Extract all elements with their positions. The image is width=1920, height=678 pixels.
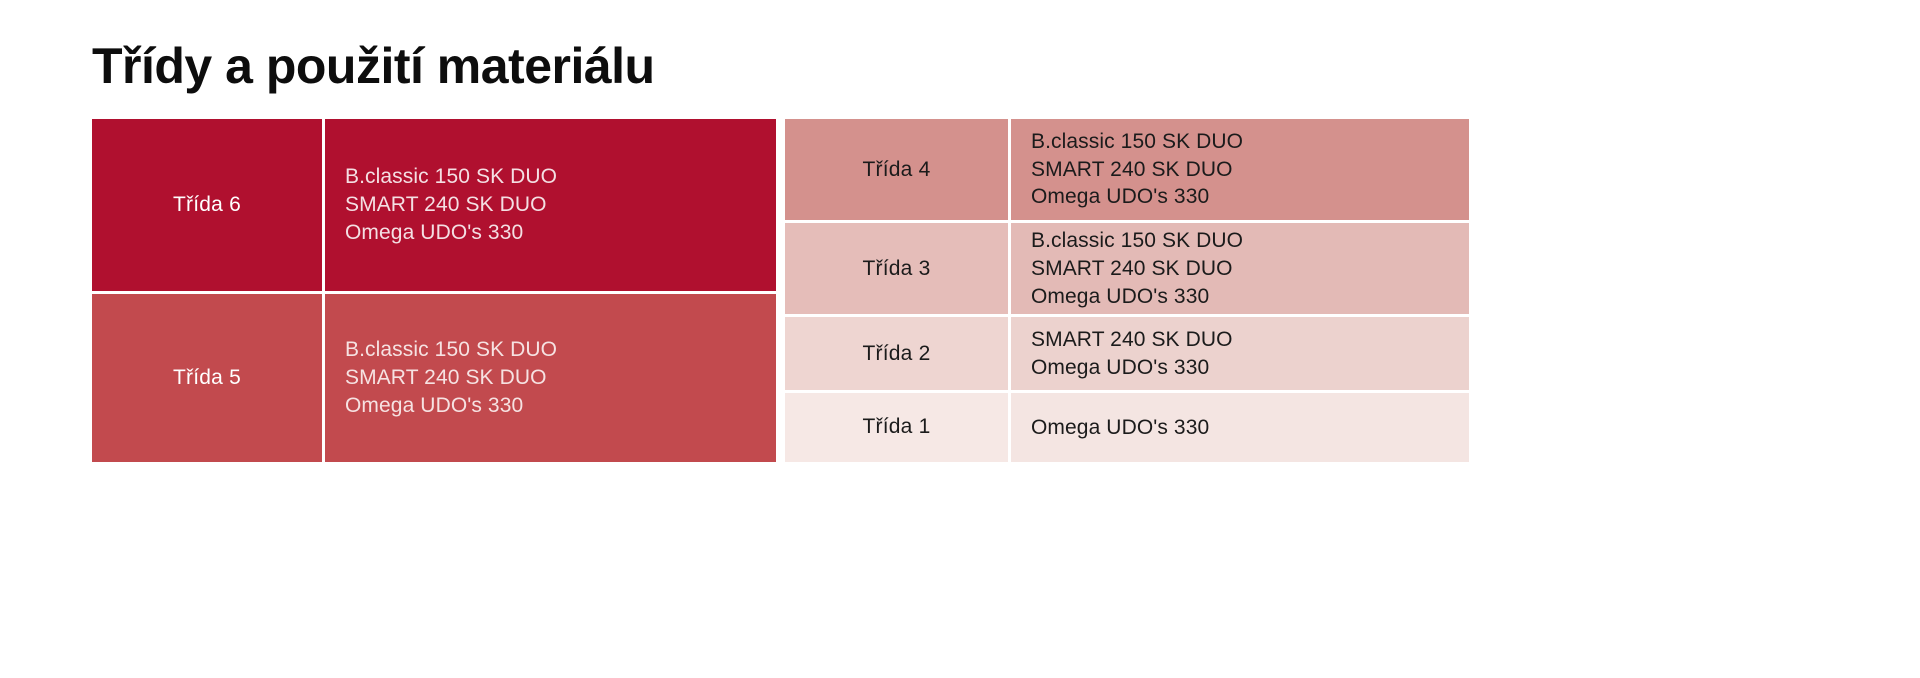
product-list: SMART 240 SK DUO Omega UDO's 330 — [1031, 326, 1233, 381]
class-label: Třída 3 — [863, 257, 931, 281]
slide-canvas: Třídy a použití materiálu Třída 6 B.clas… — [0, 0, 1920, 678]
product-list: B.classic 150 SK DUO SMART 240 SK DUO Om… — [345, 336, 557, 419]
material-classes-table-left: Třída 6 B.classic 150 SK DUO SMART 240 S… — [92, 119, 776, 462]
page-title: Třídy a použití materiálu — [92, 38, 655, 96]
table-row: Třída 3 B.classic 150 SK DUO SMART 240 S… — [785, 220, 1469, 314]
products-cell-trida-4[interactable]: B.classic 150 SK DUO SMART 240 SK DUO Om… — [1008, 119, 1469, 220]
class-label: Třída 1 — [863, 415, 931, 439]
class-cell-trida-5[interactable]: Třída 5 — [92, 294, 322, 463]
table-row: Třída 5 B.classic 150 SK DUO SMART 240 S… — [92, 291, 776, 463]
class-cell-trida-2[interactable]: Třída 2 — [785, 317, 1008, 389]
table-row: Třída 2 SMART 240 SK DUO Omega UDO's 330 — [785, 314, 1469, 389]
class-label: Třída 2 — [863, 342, 931, 366]
products-cell-trida-6[interactable]: B.classic 150 SK DUO SMART 240 SK DUO Om… — [322, 119, 776, 291]
products-cell-trida-1[interactable]: Omega UDO's 330 — [1008, 393, 1469, 462]
product-list: B.classic 150 SK DUO SMART 240 SK DUO Om… — [1031, 128, 1243, 211]
class-cell-trida-1[interactable]: Třída 1 — [785, 393, 1008, 462]
products-cell-trida-5[interactable]: B.classic 150 SK DUO SMART 240 SK DUO Om… — [322, 294, 776, 463]
class-cell-trida-4[interactable]: Třída 4 — [785, 119, 1008, 220]
product-list: Omega UDO's 330 — [1031, 414, 1209, 442]
products-cell-trida-3[interactable]: B.classic 150 SK DUO SMART 240 SK DUO Om… — [1008, 223, 1469, 314]
product-list: B.classic 150 SK DUO SMART 240 SK DUO Om… — [345, 163, 557, 246]
class-label: Třída 4 — [863, 158, 931, 182]
product-list: B.classic 150 SK DUO SMART 240 SK DUO Om… — [1031, 227, 1243, 310]
table-row: Třída 4 B.classic 150 SK DUO SMART 240 S… — [785, 119, 1469, 220]
class-label: Třída 5 — [173, 366, 241, 390]
table-row: Třída 6 B.classic 150 SK DUO SMART 240 S… — [92, 119, 776, 291]
products-cell-trida-2[interactable]: SMART 240 SK DUO Omega UDO's 330 — [1008, 317, 1469, 389]
class-label: Třída 6 — [173, 193, 241, 217]
class-cell-trida-3[interactable]: Třída 3 — [785, 223, 1008, 314]
class-cell-trida-6[interactable]: Třída 6 — [92, 119, 322, 291]
material-classes-table-right: Třída 4 B.classic 150 SK DUO SMART 240 S… — [785, 119, 1469, 462]
table-row: Třída 1 Omega UDO's 330 — [785, 390, 1469, 462]
